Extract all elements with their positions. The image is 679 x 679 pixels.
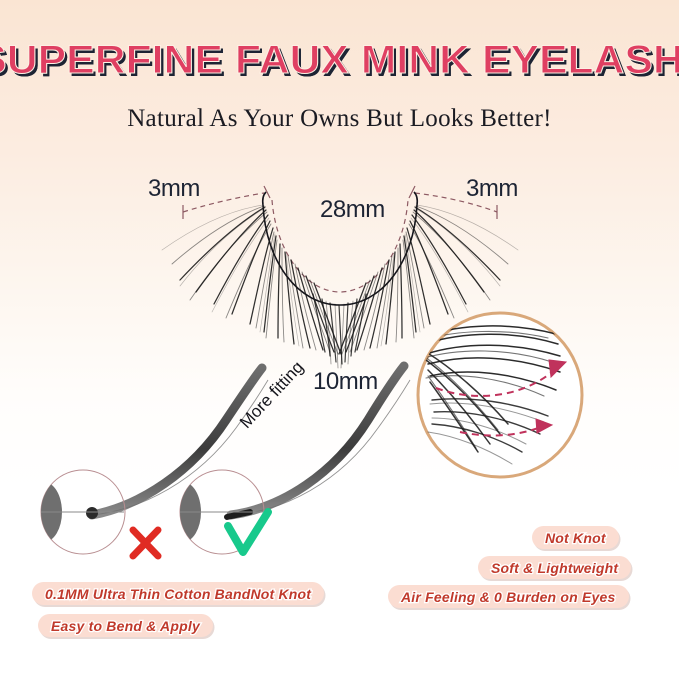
lash-closeup-inset xyxy=(418,313,582,477)
page-title: SUPERFINE FAUX MINK EYELASHES xyxy=(0,38,679,83)
tag-easy-bend-label: Easy to Bend & Apply xyxy=(51,618,200,634)
label-left-3mm: 3mm xyxy=(148,175,200,203)
title-container: SUPERFINE FAUX MINK EYELASHES xyxy=(0,38,679,83)
lash-fibers-left xyxy=(162,205,341,354)
tag-air-feeling: Air Feeling & 0 Burden on Eyes xyxy=(388,585,629,608)
lash-fibers-right xyxy=(339,205,518,354)
tag-cotton-band: 0.1MM Ultra Thin Cotton BandNot Knot xyxy=(32,582,324,605)
bad-band-illustration xyxy=(26,368,268,556)
inset-direction-arrows xyxy=(436,360,566,435)
label-band-width: 28mm xyxy=(320,196,385,224)
tag-not-knot: Not Knot xyxy=(532,526,619,549)
label-more-fitting: More fitting xyxy=(236,357,308,432)
page-subtitle: Natural As Your Owns But Looks Better! xyxy=(0,105,679,133)
label-lash-length: 10mm xyxy=(313,368,378,396)
bad-x-mark xyxy=(133,530,158,556)
tag-cotton-band-label: 0.1MM Ultra Thin Cotton BandNot Knot xyxy=(45,586,311,602)
good-check-mark xyxy=(228,512,268,552)
tag-not-knot-label: Not Knot xyxy=(545,530,606,546)
tag-easy-bend: Easy to Bend & Apply xyxy=(38,614,213,637)
tag-soft-lightweight-label: Soft & Lightweight xyxy=(491,560,618,576)
lash-fibers-center xyxy=(313,294,366,368)
tag-soft-lightweight: Soft & Lightweight xyxy=(478,556,631,579)
tag-air-feeling-label: Air Feeling & 0 Burden on Eyes xyxy=(401,589,616,605)
product-infographic: SUPERFINE FAUX MINK EYELASHES Natural As… xyxy=(0,0,679,679)
label-right-3mm: 3mm xyxy=(466,175,518,203)
